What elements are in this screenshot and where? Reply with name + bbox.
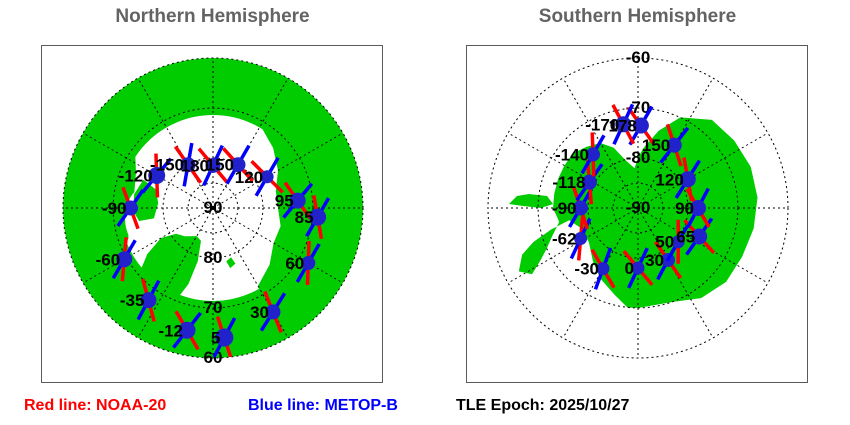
south-polar-chart: -90-80-70-60030-3050-6265-9090-118120-14… bbox=[467, 46, 806, 381]
svg-text:65: 65 bbox=[676, 228, 695, 247]
svg-text:60: 60 bbox=[285, 254, 304, 273]
svg-text:5: 5 bbox=[211, 329, 220, 348]
legend-metopb: Blue line: METOP-B bbox=[248, 397, 398, 415]
svg-text:30: 30 bbox=[645, 251, 664, 270]
svg-text:-12: -12 bbox=[158, 321, 183, 340]
svg-text:-60: -60 bbox=[626, 48, 651, 67]
legend-noaa20: Red line: NOAA-20 bbox=[24, 397, 166, 415]
svg-text:-170: -170 bbox=[585, 115, 619, 134]
svg-text:90: 90 bbox=[204, 198, 223, 217]
northern-hemisphere-title: Northern Hemisphere bbox=[0, 6, 425, 28]
svg-text:95: 95 bbox=[275, 192, 294, 211]
north-polar-chart: 90807060180-150150-120120-909585-6060-35… bbox=[42, 46, 381, 381]
svg-text:-62: -62 bbox=[552, 230, 577, 249]
svg-text:-90: -90 bbox=[102, 199, 127, 218]
svg-text:150: 150 bbox=[206, 156, 234, 175]
legend-tle-epoch: TLE Epoch: 2025/10/27 bbox=[456, 397, 629, 415]
svg-text:50: 50 bbox=[655, 233, 674, 252]
svg-text:0: 0 bbox=[625, 259, 634, 278]
svg-text:80: 80 bbox=[204, 248, 223, 267]
svg-text:-90: -90 bbox=[552, 199, 577, 218]
southern-hemisphere-title: Southern Hemisphere bbox=[425, 6, 850, 28]
svg-text:-90: -90 bbox=[626, 198, 651, 217]
svg-text:-120: -120 bbox=[119, 167, 153, 186]
svg-text:60: 60 bbox=[204, 348, 223, 367]
northern-hemisphere-panel: Northern Hemisphere 90807060180-150150-1… bbox=[0, 0, 425, 425]
svg-text:-140: -140 bbox=[555, 145, 589, 164]
svg-text:85: 85 bbox=[295, 208, 314, 227]
svg-text:70: 70 bbox=[204, 298, 223, 317]
svg-text:-118: -118 bbox=[552, 173, 585, 192]
svg-text:30: 30 bbox=[250, 303, 269, 322]
svg-text:-35: -35 bbox=[120, 291, 145, 310]
southern-hemisphere-plot: -90-80-70-60030-3050-6265-9090-118120-14… bbox=[466, 45, 808, 383]
svg-text:-60: -60 bbox=[96, 250, 121, 269]
svg-text:120: 120 bbox=[655, 170, 683, 189]
svg-text:150: 150 bbox=[642, 136, 670, 155]
southern-hemisphere-panel: Southern Hemisphere -90-80-70-60030-3050… bbox=[425, 0, 850, 425]
svg-text:-30: -30 bbox=[574, 260, 599, 279]
northern-hemisphere-plot: 90807060180-150150-120120-909585-6060-35… bbox=[41, 45, 383, 383]
svg-text:90: 90 bbox=[675, 199, 694, 218]
svg-text:-150: -150 bbox=[150, 156, 184, 175]
svg-text:120: 120 bbox=[235, 168, 263, 187]
